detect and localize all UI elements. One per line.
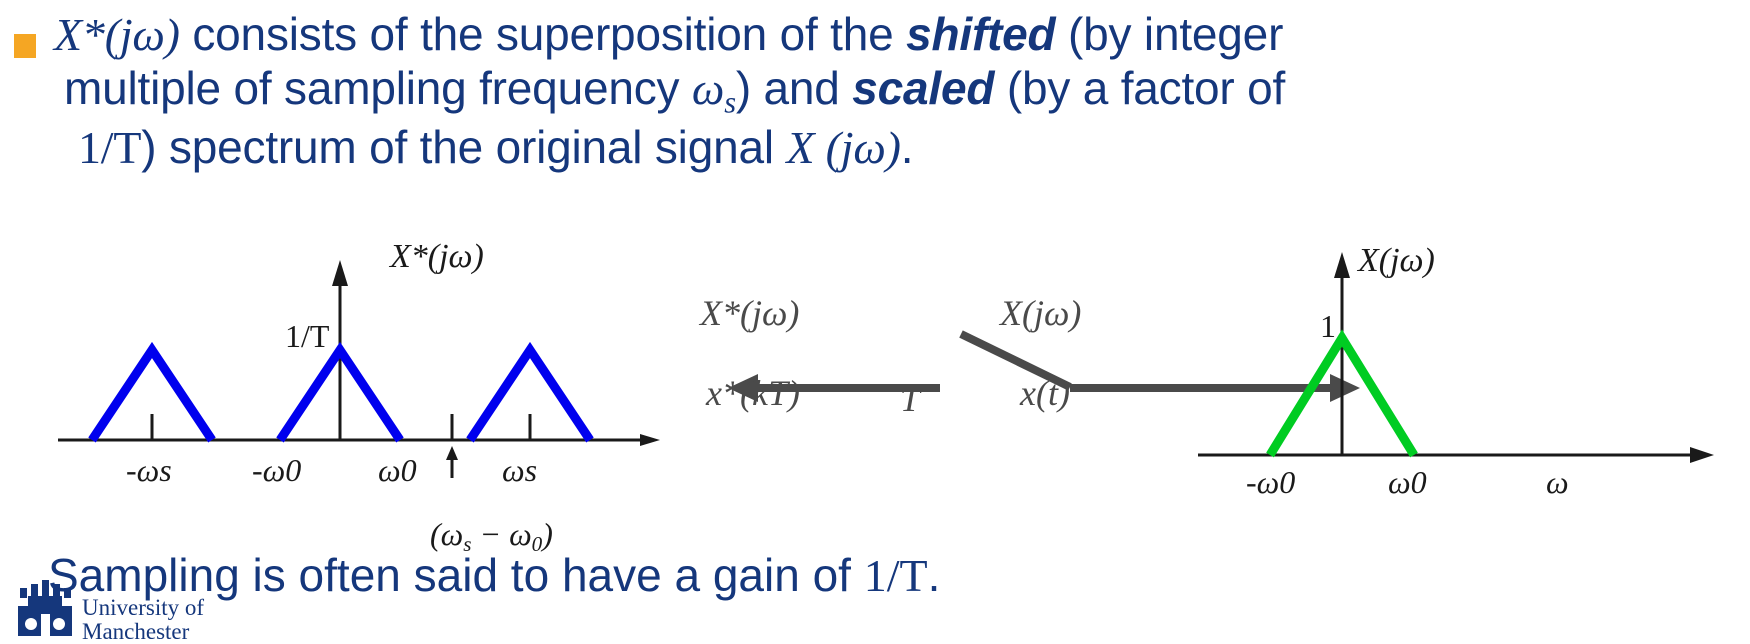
right-chart-xtick-label-w0: ω0 <box>1388 464 1427 501</box>
closing-statement-post: . <box>928 549 941 601</box>
bullet-line-1-post: (by integer <box>1055 8 1283 60</box>
omega-subscript-s: s <box>724 85 736 119</box>
bullet-line-3: 1/T) spectrum of the original signal X (… <box>54 121 1714 175</box>
bullet-line-2-post: (by a factor of <box>994 62 1285 114</box>
logo-wordmark-line2: Manchester <box>82 620 204 644</box>
sampler-switch-label: T <box>900 378 920 420</box>
right-chart-x-axis-arrow-icon <box>1690 447 1714 463</box>
right-chart-svg <box>1190 238 1750 478</box>
left-chart-xtick-label-ws: ωs <box>502 452 537 489</box>
left-arrow-below-label: x*(kT) <box>706 372 800 414</box>
one-over-t: 1/T <box>78 122 141 173</box>
left-chart-peak-label: 1/T <box>285 318 329 355</box>
bullet-line-1-bold: shifted <box>906 8 1055 60</box>
bullet-marker-icon <box>14 34 36 58</box>
left-chart-xtick-label-neg-w0: -ω0 <box>252 452 301 489</box>
sampling-spectrum-figure: X*(jω) 1/T -ωs -ω0 ω0 ωs (ωs − ω0) X*(jω… <box>0 230 1750 500</box>
right-arrow-below-label: x(t) <box>1020 372 1070 414</box>
right-chart-peak-label: 1 <box>1320 308 1336 345</box>
bullet-line-2: multiple of sampling frequency ωs) and s… <box>54 62 1714 121</box>
bullet-text-block: X*(jω) consists of the superposition of … <box>14 8 1714 175</box>
bullet-line-3-post: . <box>901 121 914 173</box>
bullet-line-3-mid: ) spectrum of the original signal <box>141 121 786 173</box>
math-x-star-jw: X*(jω) <box>54 9 180 60</box>
left-chart-annotation-arrowhead-icon <box>446 446 458 460</box>
math-x-jw: X (jω) <box>786 122 900 173</box>
left-chart-xtick-label-neg-ws: -ωs <box>126 452 172 489</box>
right-arrow-above-label: X(jω) <box>1000 292 1081 334</box>
left-chart-title: X*(jω) <box>390 238 484 276</box>
bullet-line-2-bold: scaled <box>852 62 994 114</box>
bullet-line-2-mid: ) and <box>736 62 852 114</box>
left-chart-y-axis-arrow-icon <box>332 260 348 286</box>
logo-wordmark: University of Manchester <box>82 596 204 644</box>
left-chart-xtick-label-w0: ω0 <box>378 452 417 489</box>
bullet-line-2-pre: multiple of sampling frequency <box>64 62 692 114</box>
omega-symbol: ω <box>692 63 724 114</box>
university-crest-icon <box>14 580 76 638</box>
right-chart-y-axis-arrow-icon <box>1334 252 1350 278</box>
left-arrow-above-label: X*(jω) <box>700 292 799 334</box>
bullet-line-1-mid: consists of the superposition of the <box>180 8 906 60</box>
right-chart-title: X(jω) <box>1358 242 1435 280</box>
right-chart-omega-axis-label: ω <box>1546 464 1569 501</box>
closing-statement-fraction: 1/T <box>864 550 928 601</box>
left-chart-svg <box>40 238 680 478</box>
bullet-line-1: X*(jω) consists of the superposition of … <box>54 8 1714 62</box>
university-logo: University of Manchester <box>14 580 244 644</box>
bullet-paragraph: X*(jω) consists of the superposition of … <box>14 8 1714 175</box>
logo-wordmark-line1: University of <box>82 596 204 620</box>
right-chart-xtick-label-neg-w0: -ω0 <box>1246 464 1295 501</box>
